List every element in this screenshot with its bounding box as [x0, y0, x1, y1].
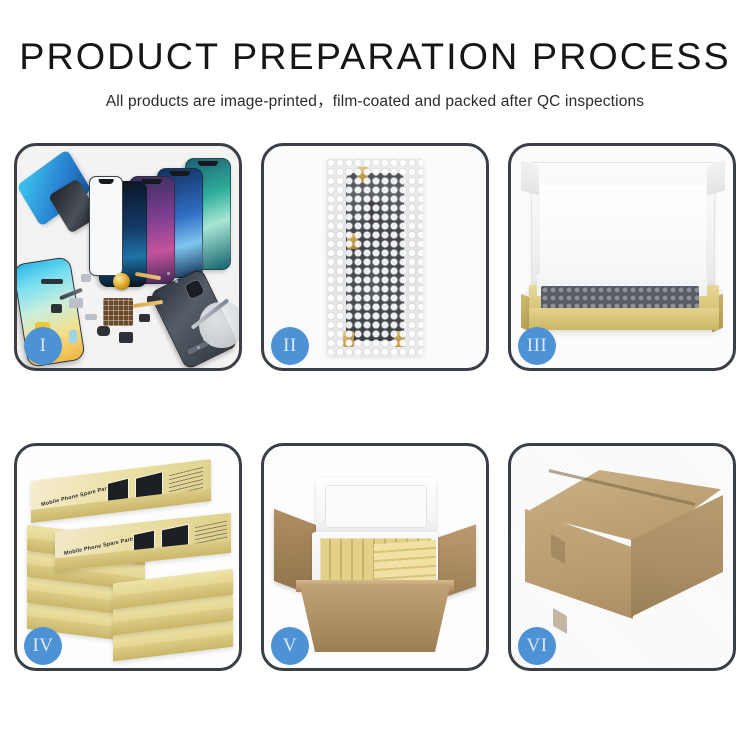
- page-title: PRODUCT PREPARATION PROCESS: [0, 38, 750, 75]
- small-part: [85, 314, 97, 320]
- carton-tape-patch: [553, 608, 567, 634]
- box-stack: Mobile Phone Spare Parts Mobile Phone Sp…: [25, 460, 237, 656]
- step-badge-2: II: [271, 327, 309, 365]
- page-header: PRODUCT PREPARATION PROCESS All products…: [0, 0, 750, 111]
- screw: [167, 272, 170, 275]
- bubble-texture: [327, 159, 423, 355]
- carton-body: [300, 586, 450, 652]
- lid-flap-left: [521, 160, 539, 195]
- box-lid-white: [531, 162, 715, 290]
- bubble-wrap-bag: [327, 159, 423, 355]
- small-part: [41, 279, 63, 284]
- process-step-panel-1[interactable]: I: [14, 143, 242, 371]
- labelled-box-top: Mobile Phone Spare Parts: [31, 459, 211, 523]
- gold-component-icon: [113, 273, 130, 290]
- styrofoam-lid: [316, 478, 436, 536]
- box-side: [113, 634, 233, 662]
- chip-array: [103, 298, 133, 326]
- small-part: [51, 304, 62, 313]
- step-badge-4: IV: [24, 627, 62, 665]
- process-step-grid: I II III: [14, 143, 736, 671]
- small-part: [69, 298, 83, 308]
- step-badge-5: V: [271, 627, 309, 665]
- small-part: [81, 274, 91, 282]
- process-step-panel-6[interactable]: VI: [508, 443, 736, 671]
- small-part: [69, 330, 77, 343]
- process-step-panel-5[interactable]: V: [261, 443, 489, 671]
- tempered-glass-screen: [89, 176, 123, 276]
- small-part: [139, 314, 150, 322]
- process-step-panel-3[interactable]: III: [508, 143, 736, 371]
- step-badge-1: I: [24, 327, 62, 365]
- process-step-panel-2[interactable]: II: [261, 143, 489, 371]
- screw: [197, 346, 200, 349]
- process-step-panel-4[interactable]: Mobile Phone Spare Parts Mobile Phone Sp…: [14, 443, 242, 671]
- packed-yellow-boxes-side: [374, 540, 436, 584]
- kraft-box-front: [529, 308, 719, 330]
- step-badge-3: III: [518, 327, 556, 365]
- screw: [175, 280, 178, 283]
- notch-icon: [142, 179, 162, 184]
- page-subtitle: All products are image-printed，film-coat…: [0, 89, 750, 111]
- notch-icon: [99, 179, 114, 184]
- small-part: [97, 326, 110, 336]
- step-badge-6: VI: [518, 627, 556, 665]
- notch-icon: [170, 171, 190, 176]
- notch-icon: [198, 161, 218, 166]
- lid-flap-right: [707, 160, 725, 195]
- small-part: [119, 332, 133, 343]
